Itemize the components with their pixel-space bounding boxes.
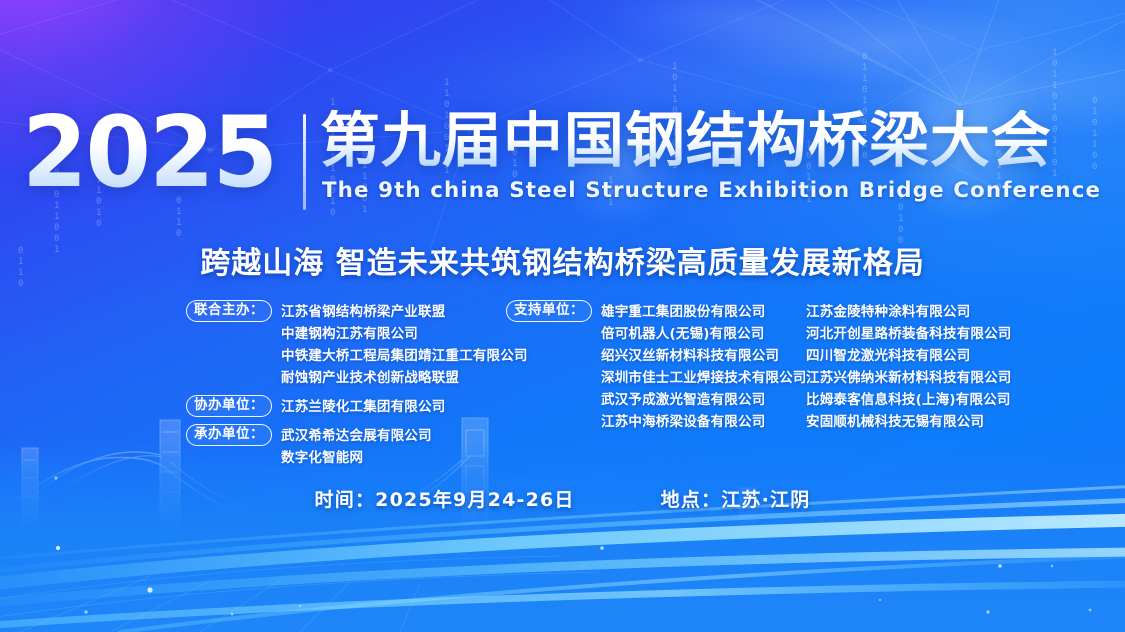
organizer-group: 联合主办： 江苏省钢结构桥梁产业联盟 中建钢构江苏有限公司 中铁建大桥工程局集团… <box>186 300 528 389</box>
supporter-item: 武汉予成激光智造有限公司 <box>601 389 807 411</box>
date-label: 时间： <box>315 489 376 511</box>
organizer-section: 联合主办： 江苏省钢结构桥梁产业联盟 中建钢构江苏有限公司 中铁建大桥工程局集团… <box>0 300 1125 450</box>
supporter-item: 雄宇重工集团股份有限公司 <box>601 301 807 323</box>
organizer-item: 江苏兰陵化工集团有限公司 <box>281 396 445 418</box>
organizer-group: 支持单位： 雄宇重工集团股份有限公司 倍可机器人(无锡)有限公司 绍兴汉丝新材料… <box>506 300 807 433</box>
supporter-item: 江苏金陵特种涂料有限公司 <box>806 301 1012 323</box>
supporter-label: 支持单位： <box>506 300 592 322</box>
year-number: 2025 <box>22 108 276 198</box>
water-surface <box>0 442 1125 632</box>
organizer-column-middle: 支持单位： 雄宇重工集团股份有限公司 倍可机器人(无锡)有限公司 绍兴汉丝新材料… <box>506 300 807 439</box>
organizer-item: 江苏省钢结构桥梁产业联盟 <box>281 301 528 323</box>
organizer-group: 承办单位： 武汉希希达会展有限公司 数字化智能网 <box>186 424 528 469</box>
event-meta: 时间：2025年9月24-26日地点：江苏·江阴 <box>0 485 1125 512</box>
organizer-group: 协办单位： 江苏兰陵化工集团有限公司 <box>186 395 528 418</box>
supporter-item: 河北开创星路桥装备科技有限公司 <box>806 323 1012 345</box>
place-value: 江苏·江阴 <box>721 489 810 511</box>
supporter-item: 倍可机器人(无锡)有限公司 <box>601 323 807 345</box>
supporter-item: 绍兴汉丝新材料科技有限公司 <box>601 345 807 367</box>
conference-banner: 0 1 0 1 1 0 0 1 1 0 1 0 0 1 1 0 1 0 0 1 … <box>0 0 1125 632</box>
organizer-item: 中建钢构江苏有限公司 <box>281 323 528 345</box>
title-divider <box>303 114 306 210</box>
page-subtitle-en: The 9th china Steel Structure Exhibition… <box>322 178 1101 203</box>
supporter-item: 四川智龙激光科技有限公司 <box>806 345 1012 367</box>
organizer-item: 武汉希希达会展有限公司 <box>281 425 432 447</box>
supporter-item: 比姆泰客信息科技(上海)有限公司 <box>806 389 1012 411</box>
place-label: 地点： <box>661 489 722 511</box>
organizer-label: 联合主办： <box>186 300 272 322</box>
date-value: 2025年9月24-26日 <box>375 489 574 511</box>
page-title: 第九届中国钢结构桥梁大会 <box>320 110 1103 173</box>
organizer-column-left: 联合主办： 江苏省钢结构桥梁产业联盟 中建钢构江苏有限公司 中铁建大桥工程局集团… <box>186 300 528 475</box>
conference-slogan: 跨越山海 智造未来共筑钢结构桥梁高质量发展新格局 <box>0 238 1125 282</box>
supporter-item: 安固顺机械科技无锡有限公司 <box>806 411 1012 433</box>
organizer-item: 中铁建大桥工程局集团靖江重工有限公司 <box>281 345 528 367</box>
supporter-item: 深圳市佳士工业焊接技术有限公司 <box>601 367 807 389</box>
banner-header: 2025 第九届中国钢结构桥梁大会 The 9th china Steel St… <box>0 108 1125 210</box>
organizer-label: 承办单位： <box>186 424 272 446</box>
organizer-column-right: 江苏金陵特种涂料有限公司 河北开创星路桥装备科技有限公司 四川智龙激光科技有限公… <box>806 300 1012 433</box>
organizer-item: 耐蚀钢产业技术创新战略联盟 <box>281 367 528 389</box>
supporter-item: 江苏兴佛纳米新材料科技有限公司 <box>806 367 1012 389</box>
organizer-label: 协办单位： <box>186 395 272 417</box>
organizer-item: 数字化智能网 <box>281 447 432 469</box>
supporter-item: 江苏中海桥梁设备有限公司 <box>601 411 807 433</box>
